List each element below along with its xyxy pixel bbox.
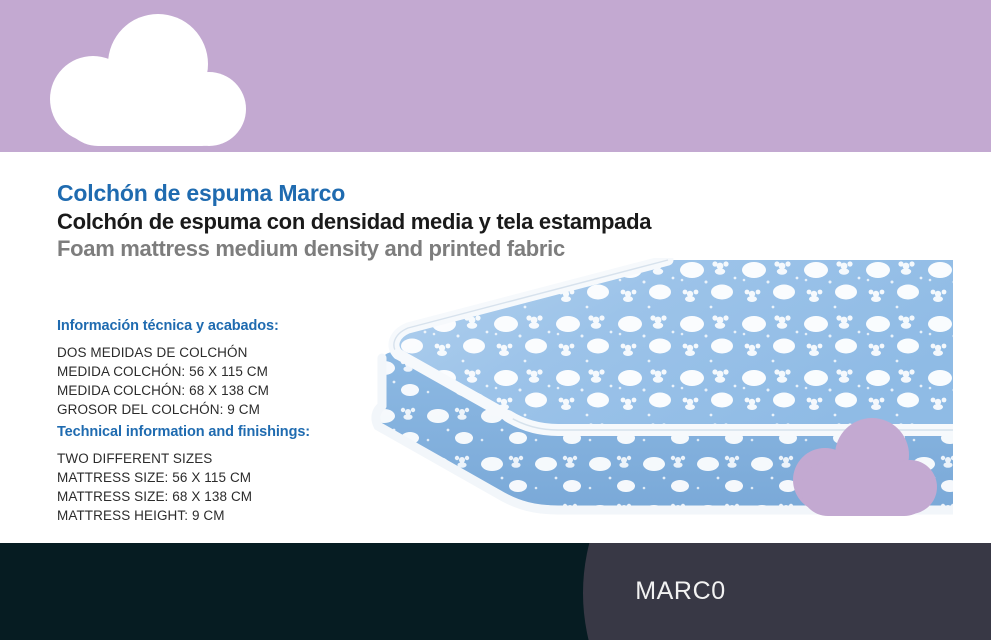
spec-line: MEDIDA COLCHÓN: 56 X 115 CM: [57, 362, 387, 381]
cloud-base: [801, 462, 931, 516]
title-block: Colchón de espuma Marco Colchón de espum…: [57, 180, 737, 262]
spec-line: GROSOR DEL COLCHÓN: 9 CM: [57, 400, 387, 419]
technical-info-spanish: Información técnica y acabados: DOS MEDI…: [57, 318, 387, 420]
header-band: [0, 0, 991, 152]
spec-line: MATTRESS SIZE: 68 X 138 CM: [57, 487, 387, 506]
footer-bar: MARC0: [0, 543, 991, 640]
spec-line: TWO DIFFERENT SIZES: [57, 449, 387, 468]
product-code: MARC0: [0, 543, 991, 640]
catalog-page: Colchón de espuma Marco Colchón de espum…: [0, 0, 991, 640]
spec-line: MEDIDA COLCHÓN: 68 X 138 CM: [57, 381, 387, 400]
cloud-icon: [50, 14, 250, 152]
product-description-spanish: Colchón de espuma con densidad media y t…: [57, 209, 737, 235]
technical-info-spanish-heading: Información técnica y acabados:: [57, 318, 387, 334]
cloud-icon: [793, 418, 939, 526]
cloud-base: [62, 74, 238, 146]
page-title: Colchón de espuma Marco: [57, 180, 737, 207]
technical-info-english: Technical information and finishings: TW…: [57, 424, 387, 526]
spec-line: MATTRESS HEIGHT: 9 CM: [57, 506, 387, 525]
spec-line: MATTRESS SIZE: 56 X 115 CM: [57, 468, 387, 487]
technical-info-english-heading: Technical information and finishings:: [57, 424, 387, 440]
spec-line: DOS MEDIDAS DE COLCHÓN: [57, 343, 387, 362]
